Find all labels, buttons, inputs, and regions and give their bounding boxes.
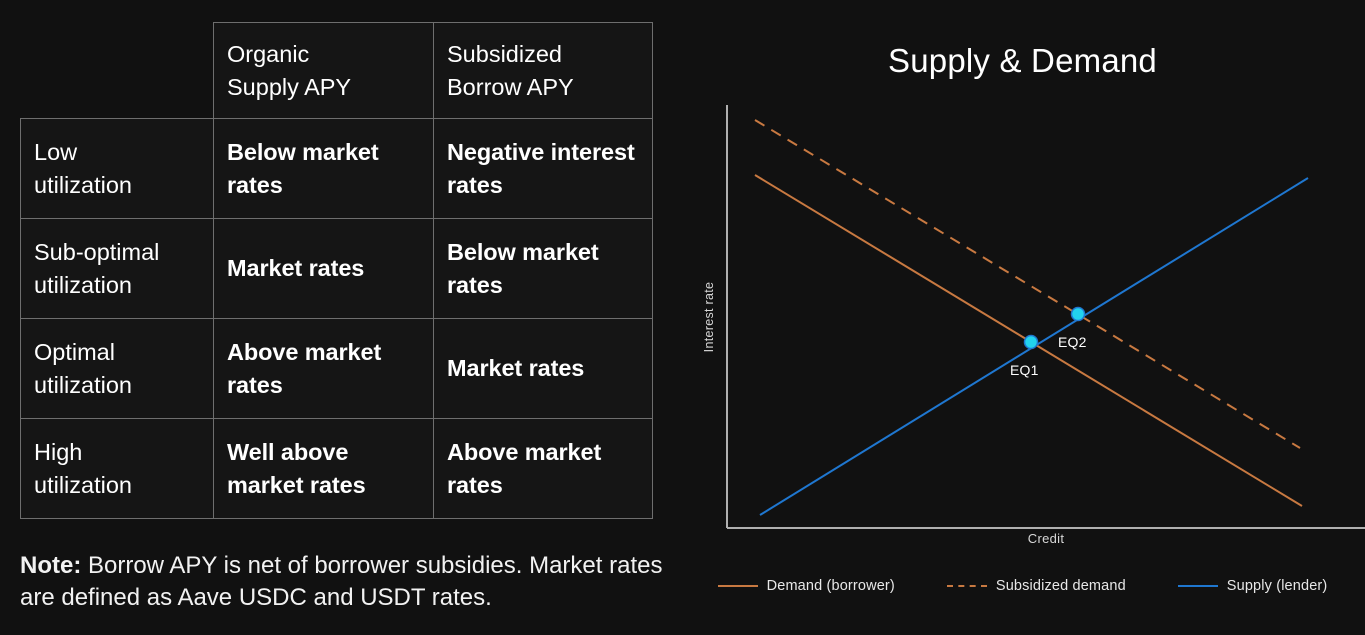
row-header-optimal-utilization: Optimal utilization (21, 319, 214, 419)
equilibrium-label-eq1: EQ1 (1010, 362, 1039, 378)
column-header-line-2: Supply APY (227, 71, 421, 103)
legend-swatch-solid-blue-icon (1178, 585, 1218, 587)
row-header-line-2: utilization (34, 269, 201, 301)
equilibrium-label-eq2: EQ2 (1058, 334, 1087, 350)
equilibrium-marker-eq1 (1025, 336, 1038, 349)
supply-demand-chart-panel: Supply & Demand EQ1 EQ2 Interest rate Cr… (680, 0, 1365, 635)
row-header-line-1: Optimal (34, 336, 201, 368)
x-axis-label: Credit (727, 531, 1365, 546)
equilibrium-marker-eq2 (1072, 308, 1085, 321)
matrix-panel: Organic Supply APY Subsidized Borrow APY… (0, 0, 680, 635)
table-corner-cell (21, 23, 214, 119)
row-header-line-2: utilization (34, 369, 201, 401)
footnote-label: Note: (20, 552, 81, 579)
legend-label-supply-lender: Supply (lender) (1227, 578, 1328, 594)
column-header-subsidized-borrow-apy: Subsidized Borrow APY (434, 23, 653, 119)
legend-swatch-solid-orange-icon (718, 585, 758, 587)
table-row: Low utilization Below market rates Negat… (21, 119, 653, 219)
chart-legend: Demand (borrower) Subsidized demand Supp… (680, 578, 1365, 594)
cell-high-subsidized-borrow: Above market rates (434, 419, 653, 519)
cell-suboptimal-subsidized-borrow: Below market rates (434, 219, 653, 319)
legend-item-supply-lender: Supply (lender) (1178, 578, 1328, 594)
footnote: Note: Borrow APY is net of borrower subs… (20, 550, 665, 614)
row-header-low-utilization: Low utilization (21, 119, 214, 219)
apy-matrix-table: Organic Supply APY Subsidized Borrow APY… (20, 22, 653, 519)
table-header-row: Organic Supply APY Subsidized Borrow APY (21, 23, 653, 119)
table-row: Optimal utilization Above market rates M… (21, 319, 653, 419)
cell-high-organic-supply: Well above market rates (214, 419, 434, 519)
cell-optimal-organic-supply: Above market rates (214, 319, 434, 419)
cell-low-subsidized-borrow: Negative interest rates (434, 119, 653, 219)
series-line-subsidized-demand (755, 120, 1300, 448)
row-header-line-1: High (34, 436, 201, 468)
row-header-line-1: Sub-optimal (34, 236, 201, 268)
row-header-line-2: utilization (34, 469, 201, 501)
legend-label-subsidized-demand: Subsidized demand (996, 578, 1126, 594)
legend-item-demand-borrower: Demand (borrower) (718, 578, 895, 594)
footnote-text: Borrow APY is net of borrower subsidies.… (20, 552, 662, 611)
cell-suboptimal-organic-supply: Market rates (214, 219, 434, 319)
legend-swatch-dashed-orange-icon (947, 585, 987, 587)
legend-item-subsidized-demand: Subsidized demand (947, 578, 1126, 594)
column-header-line-1: Subsidized (447, 38, 640, 70)
y-axis-label: Interest rate (702, 272, 716, 362)
column-header-line-2: Borrow APY (447, 71, 640, 103)
row-header-sub-optimal-utilization: Sub-optimal utilization (21, 219, 214, 319)
table-row: Sub-optimal utilization Market rates Bel… (21, 219, 653, 319)
row-header-line-1: Low (34, 136, 201, 168)
table-row: High utilization Well above market rates… (21, 419, 653, 519)
row-header-high-utilization: High utilization (21, 419, 214, 519)
row-header-line-2: utilization (34, 169, 201, 201)
cell-low-organic-supply: Below market rates (214, 119, 434, 219)
column-header-organic-supply-apy: Organic Supply APY (214, 23, 434, 119)
legend-label-demand-borrower: Demand (borrower) (767, 578, 895, 594)
cell-optimal-subsidized-borrow: Market rates (434, 319, 653, 419)
column-header-line-1: Organic (227, 38, 421, 70)
